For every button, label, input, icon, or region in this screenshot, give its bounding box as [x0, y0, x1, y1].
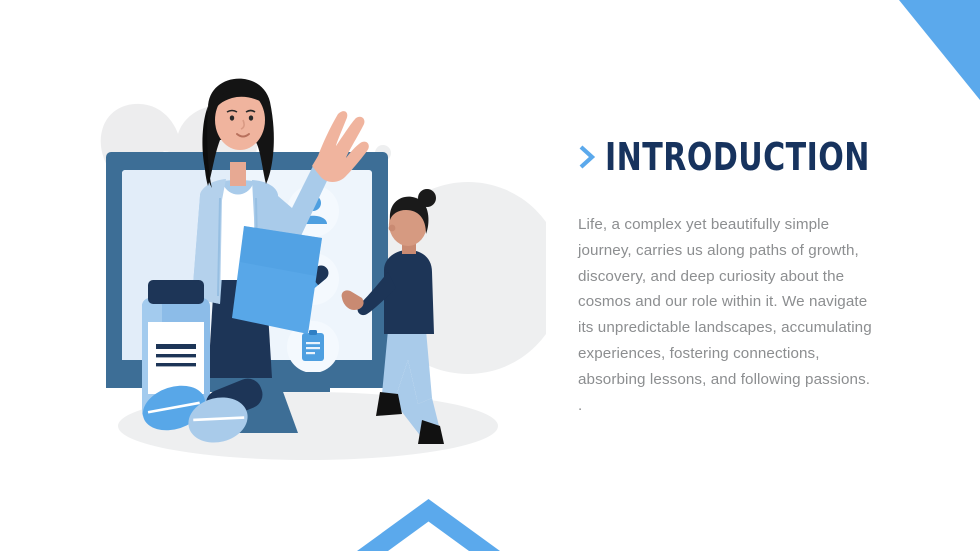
bottom-chevron-decoration — [357, 499, 500, 551]
doctor-clipboard — [232, 226, 322, 334]
corner-triangle-decoration — [879, 0, 980, 100]
title-row: INTRODUCTION — [578, 138, 908, 176]
slide-root: INTRODUCTION Life, a complex yet beautif… — [0, 0, 980, 551]
body-paragraph: Life, a complex yet beautifully simple j… — [578, 212, 878, 418]
chevron-right-icon — [578, 145, 596, 169]
page-title: INTRODUCTION — [605, 138, 870, 176]
telemedicine-illustration — [96, 48, 546, 468]
text-column: INTRODUCTION Life, a complex yet beautif… — [578, 138, 908, 418]
